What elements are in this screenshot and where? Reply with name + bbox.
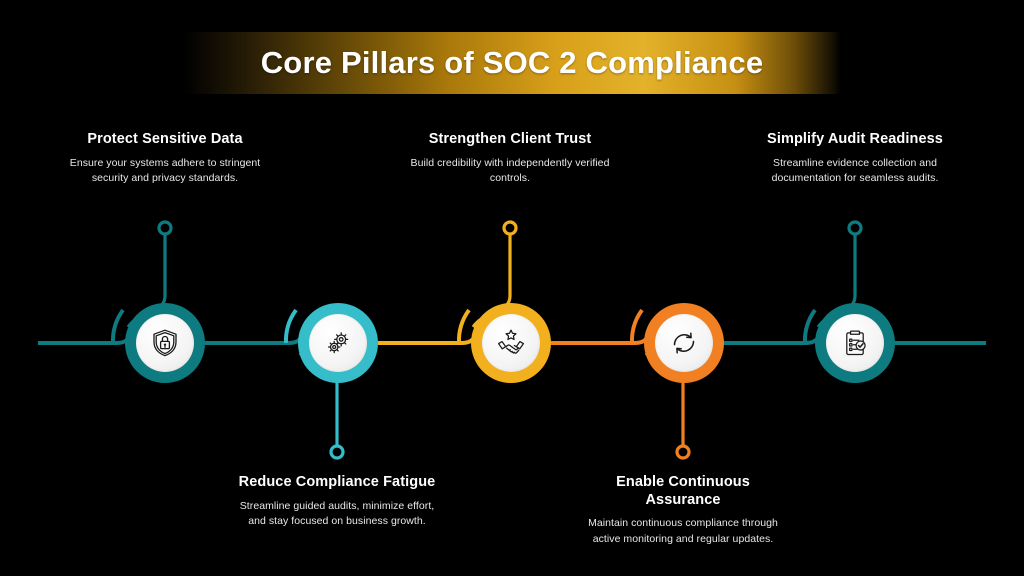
- node-strengthen-client-trust[interactable]: [471, 303, 551, 383]
- node-reduce-compliance-fatigue[interactable]: [298, 303, 378, 383]
- node-protect-sensitive-data[interactable]: [125, 303, 205, 383]
- node-icon-face: [826, 314, 884, 372]
- node-icon-face: [309, 314, 367, 372]
- caption-reduce-compliance-fatigue: Reduce Compliance Fatigue Streamline gui…: [236, 474, 438, 529]
- connector-lines: [0, 0, 1024, 576]
- caption-body: Build credibility with independently ver…: [409, 156, 611, 186]
- caption-title: Simplify Audit Readiness: [754, 131, 956, 149]
- node-icon-face: [136, 314, 194, 372]
- caption-title: Strengthen Client Trust: [409, 131, 611, 149]
- caption-title: Enable Continuous Assurance: [582, 474, 784, 509]
- caption-body: Streamline guided audits, minimize effor…: [236, 499, 438, 529]
- shield-lock-icon: [149, 327, 181, 359]
- caption-enable-continuous-assurance: Enable Continuous Assurance Maintain con…: [582, 474, 784, 547]
- node-enable-continuous-assurance[interactable]: [644, 303, 724, 383]
- caption-simplify-audit-readiness: Simplify Audit Readiness Streamline evid…: [754, 131, 956, 186]
- refresh-cycle-icon: [668, 327, 700, 359]
- caption-body: Maintain continuous compliance through a…: [582, 516, 784, 546]
- gears-icon: [322, 327, 354, 359]
- node-simplify-audit-readiness[interactable]: [815, 303, 895, 383]
- caption-protect-sensitive-data: Protect Sensitive Data Ensure your syste…: [64, 131, 266, 186]
- handshake-star-icon: [494, 326, 528, 360]
- caption-title: Protect Sensitive Data: [64, 131, 266, 149]
- caption-strengthen-client-trust: Strengthen Client Trust Build credibilit…: [409, 131, 611, 186]
- clipboard-check-icon: [839, 327, 871, 359]
- node-icon-face: [482, 314, 540, 372]
- infographic-canvas: Core Pillars of SOC 2 Compliance: [0, 0, 1024, 576]
- caption-title: Reduce Compliance Fatigue: [236, 474, 438, 492]
- caption-body: Ensure your systems adhere to stringent …: [64, 156, 266, 186]
- node-icon-face: [655, 314, 713, 372]
- caption-body: Streamline evidence collection and docum…: [754, 156, 956, 186]
